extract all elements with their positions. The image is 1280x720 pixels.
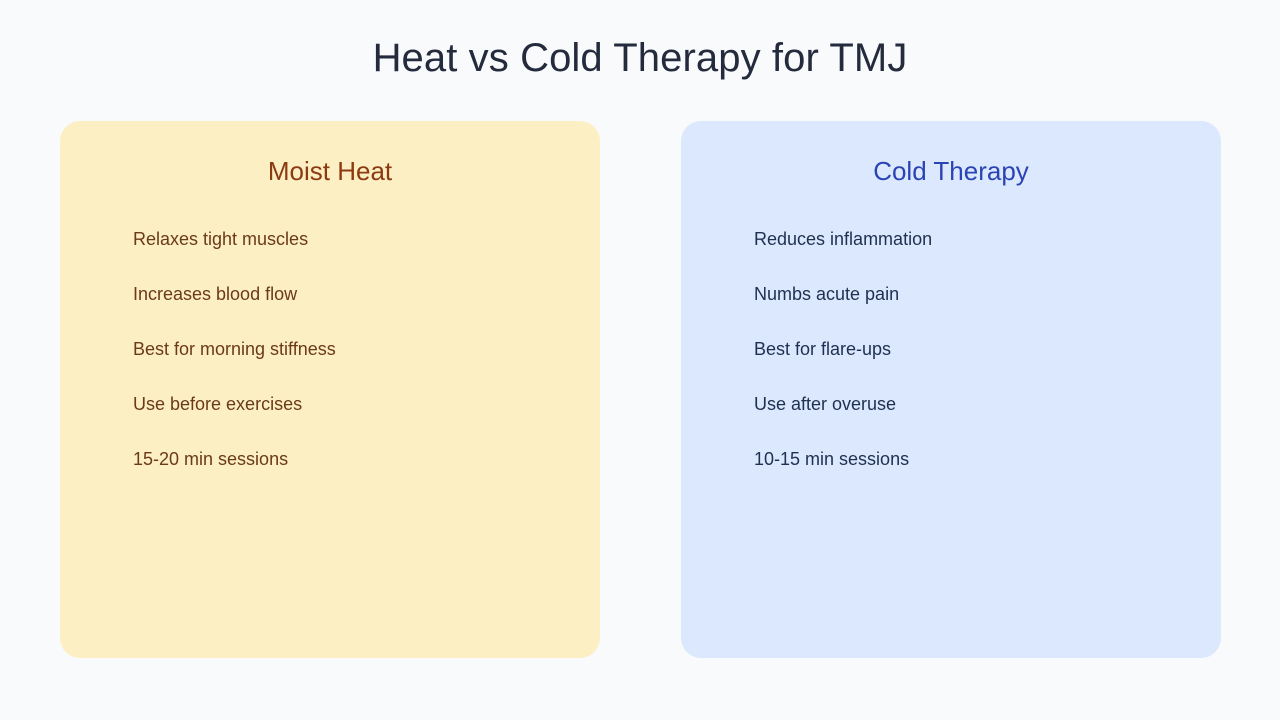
list-item: 15-20 min sessions xyxy=(133,447,576,502)
list-item: Reduces inflammation xyxy=(754,227,1197,282)
list-item: Use before exercises xyxy=(133,392,576,447)
comparison-slide: Heat vs Cold Therapy for TMJ Moist Heat … xyxy=(0,0,1280,720)
card-moist-heat: Moist Heat Relaxes tight muscles Increas… xyxy=(60,121,600,658)
card-list-moist-heat: Relaxes tight muscles Increases blood fl… xyxy=(133,227,576,502)
list-item: Numbs acute pain xyxy=(754,282,1197,337)
list-item: 10-15 min sessions xyxy=(754,447,1197,502)
page-title: Heat vs Cold Therapy for TMJ xyxy=(0,30,1280,86)
list-item: Relaxes tight muscles xyxy=(133,227,576,282)
card-list-cold-therapy: Reduces inflammation Numbs acute pain Be… xyxy=(754,227,1197,502)
card-cold-therapy: Cold Therapy Reduces inflammation Numbs … xyxy=(681,121,1221,658)
list-item: Use after overuse xyxy=(754,392,1197,447)
list-item: Best for morning stiffness xyxy=(133,337,576,392)
card-heading-moist-heat: Moist Heat xyxy=(60,154,600,188)
card-heading-cold-therapy: Cold Therapy xyxy=(681,154,1221,188)
list-item: Increases blood flow xyxy=(133,282,576,337)
list-item: Best for flare-ups xyxy=(754,337,1197,392)
comparison-columns: Moist Heat Relaxes tight muscles Increas… xyxy=(60,121,1220,658)
